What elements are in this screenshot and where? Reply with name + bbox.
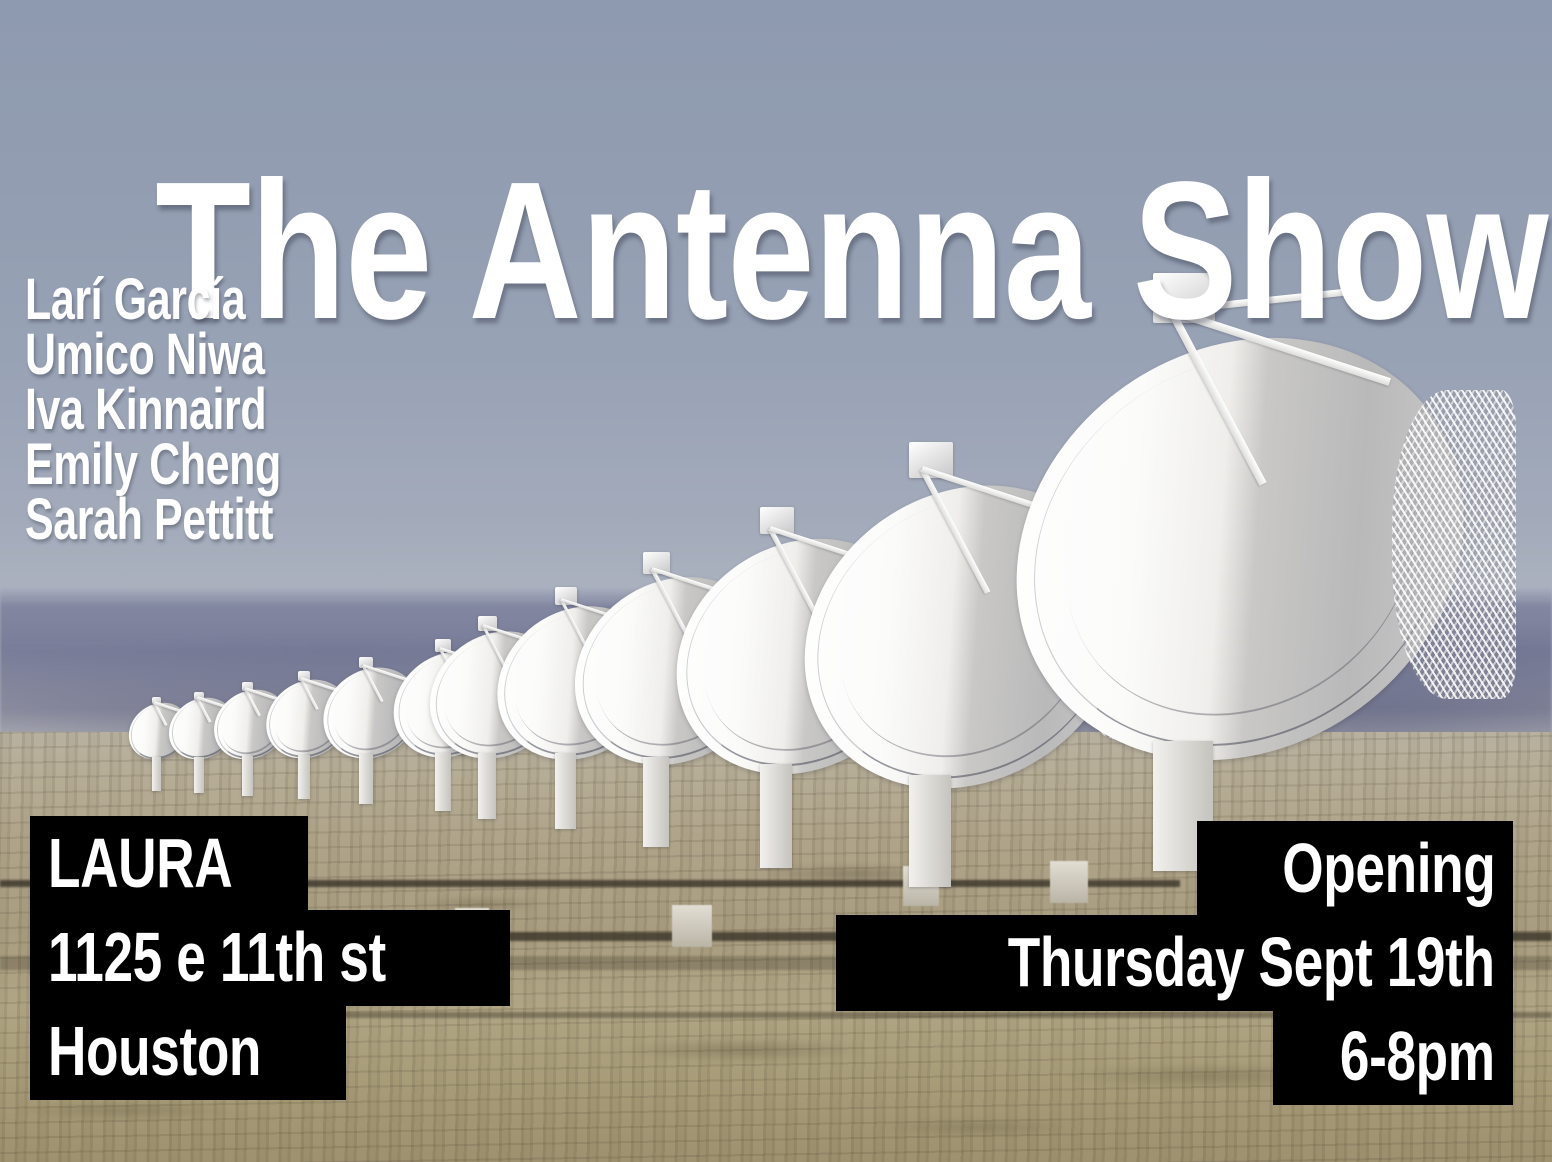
- artist-list: Larí García Umico Niwa Iva Kinnaird Emil…: [25, 272, 371, 547]
- antenna-pedestal: [298, 755, 310, 799]
- opening-label-text: Opening: [1282, 833, 1495, 903]
- antenna-pedestal: [478, 753, 496, 819]
- opening-date-text: Thursday Sept 19th: [1008, 927, 1495, 997]
- antenna-pedestal: [555, 753, 576, 829]
- opening-time-text: 6-8pm: [1340, 1021, 1495, 1091]
- venue-name: LAURA: [30, 816, 308, 912]
- venue-street-text: 1125 e 11th st: [48, 922, 386, 992]
- poster: The Antenna Show Larí García Umico Niwa …: [0, 0, 1552, 1162]
- antenna-pedestal: [359, 754, 373, 804]
- antenna-pedestal: [194, 757, 204, 793]
- venue-city: Houston: [30, 1004, 346, 1100]
- opening-time: 6-8pm: [1273, 1009, 1513, 1105]
- antenna-pedestal: [643, 757, 669, 847]
- artist-name: Emily Cheng: [25, 437, 281, 492]
- opening-date: Thursday Sept 19th: [836, 915, 1513, 1011]
- venue-block: LAURA 1125 e 11th st Houston: [30, 818, 510, 1100]
- antenna-pedestal: [435, 753, 451, 811]
- venue-city-text: Houston: [48, 1016, 261, 1086]
- artist-name: Sarah Pettitt: [25, 492, 281, 547]
- antenna-pedestal: [760, 764, 792, 868]
- antenna-pedestal: [242, 756, 253, 796]
- venue-street: 1125 e 11th st: [30, 910, 510, 1006]
- concrete-pad: [672, 905, 712, 947]
- venue-name-text: LAURA: [48, 828, 232, 898]
- artist-name: Umico Niwa: [25, 327, 281, 382]
- antenna-pedestal: [152, 757, 161, 791]
- antenna-dish: [1010, 340, 1470, 758]
- opening-label: Opening: [1197, 821, 1513, 917]
- opening-block: Opening Thursday Sept 19th 6-8pm: [836, 823, 1513, 1105]
- artist-name: Larí García: [25, 272, 281, 327]
- artist-name: Iva Kinnaird: [25, 382, 281, 437]
